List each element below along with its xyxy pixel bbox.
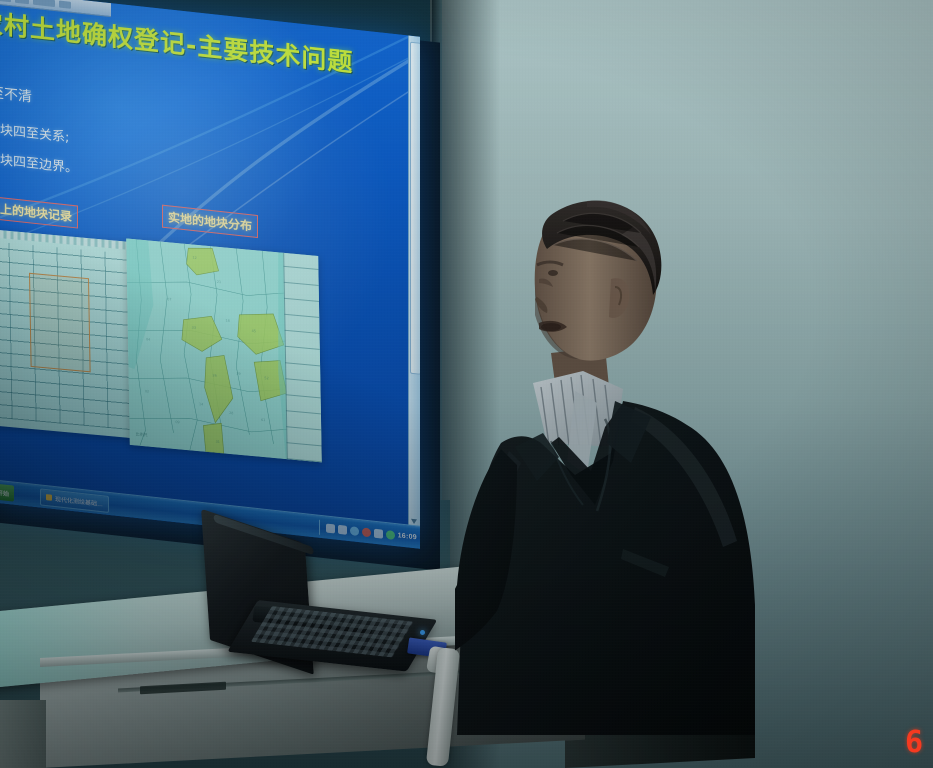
svg-text:26: 26	[212, 373, 216, 377]
svg-text:14: 14	[199, 402, 203, 406]
shield-icon[interactable]	[386, 529, 395, 539]
media-icon[interactable]	[362, 527, 371, 537]
svg-text:45: 45	[252, 329, 256, 333]
app-icon	[46, 494, 52, 501]
scroll-down-arrow-icon[interactable]	[411, 519, 417, 525]
svg-text:09: 09	[175, 420, 179, 424]
svg-text:52: 52	[264, 376, 268, 380]
presentation-slide: 农村土地确权登记-主要技术问题 …至不清 …地块四至关系; …地块四至边界。 台…	[0, 0, 420, 549]
presenter	[455, 175, 785, 735]
svg-text:比例尺: 比例尺	[136, 430, 148, 437]
projection-screen: 农村土地确权登记-主要技术问题 …至不清 …地块四至关系; …地块四至边界。 台…	[0, 0, 420, 549]
photo-scene: 农村土地确权登记-主要技术问题 …至不清 …地块四至关系; …地块四至边界。 台…	[0, 0, 933, 768]
scrollbar-thumb[interactable]	[410, 42, 420, 375]
podium-leg	[0, 700, 46, 768]
antivirus-icon[interactable]	[374, 528, 383, 538]
svg-text:04: 04	[146, 337, 150, 341]
map-legend-table	[283, 253, 322, 463]
svg-text:28: 28	[229, 411, 233, 415]
volume-icon[interactable]	[350, 526, 359, 536]
svg-text:18: 18	[225, 319, 229, 323]
power-led-icon	[420, 630, 425, 635]
svg-text:02: 02	[145, 389, 149, 393]
start-button[interactable]: 开始	[0, 483, 14, 501]
svg-text:33: 33	[192, 325, 196, 329]
svg-text:31: 31	[216, 440, 220, 444]
ledger-highlight-box	[29, 273, 91, 373]
camera-date-stamp: 6	[905, 728, 925, 758]
presenter-figure	[455, 175, 785, 735]
taskbar-clock[interactable]: 16:09	[398, 532, 417, 541]
network-icon[interactable]	[326, 523, 335, 533]
taskbar-window-label: 现代化测绘基础…	[55, 494, 103, 508]
cadastral-parcel-map: 1221 0733 1845 2639 5214 2861 0931 0402 …	[126, 238, 322, 462]
vertical-scrollbar[interactable]	[408, 35, 420, 526]
svg-text:12: 12	[192, 256, 196, 260]
svg-text:61: 61	[261, 418, 265, 422]
svg-text:07: 07	[167, 297, 171, 301]
display-icon[interactable]	[338, 524, 347, 534]
svg-text:21: 21	[217, 280, 221, 284]
parcel-ledger-scan	[0, 228, 134, 438]
svg-text:39: 39	[236, 372, 240, 376]
